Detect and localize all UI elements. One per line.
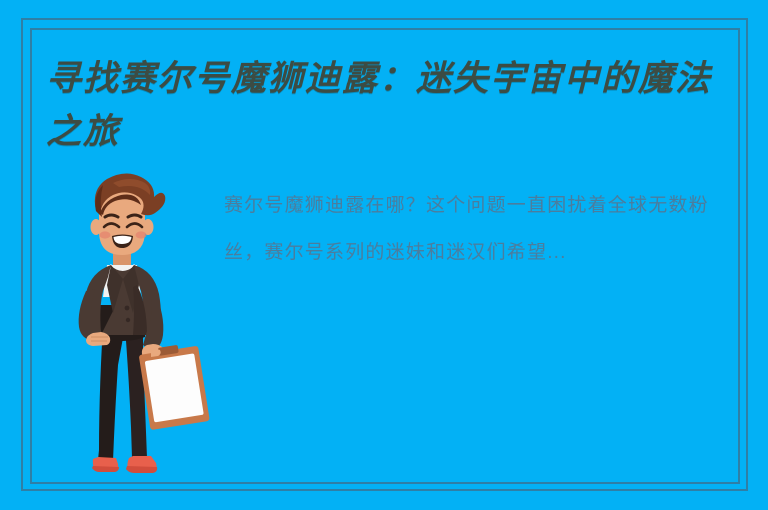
clipboard bbox=[138, 342, 210, 430]
businessman-figure-svg bbox=[55, 165, 215, 485]
businessman-illustration bbox=[55, 165, 215, 485]
page-title: 寻找赛尔号魔狮迪露：迷失宇宙中的魔法之旅 bbox=[46, 52, 736, 158]
suit-button-lower bbox=[126, 318, 130, 322]
article-card: 寻找赛尔号魔狮迪露：迷失宇宙中的魔法之旅 赛尔号魔狮迪露在哪？这个问题一直困扰着… bbox=[0, 0, 768, 510]
shoe-left-sole bbox=[92, 466, 119, 472]
cheek-right bbox=[136, 231, 147, 238]
suit-button bbox=[125, 306, 130, 311]
article-summary: 赛尔号魔狮迪露在哪？这个问题一直困扰着全球无数粉丝，赛尔号系列的迷妹和迷汉们希望… bbox=[224, 182, 736, 276]
clipboard-paper bbox=[145, 353, 204, 422]
cheek-left bbox=[100, 231, 111, 238]
shoe-right-sole bbox=[126, 466, 157, 473]
